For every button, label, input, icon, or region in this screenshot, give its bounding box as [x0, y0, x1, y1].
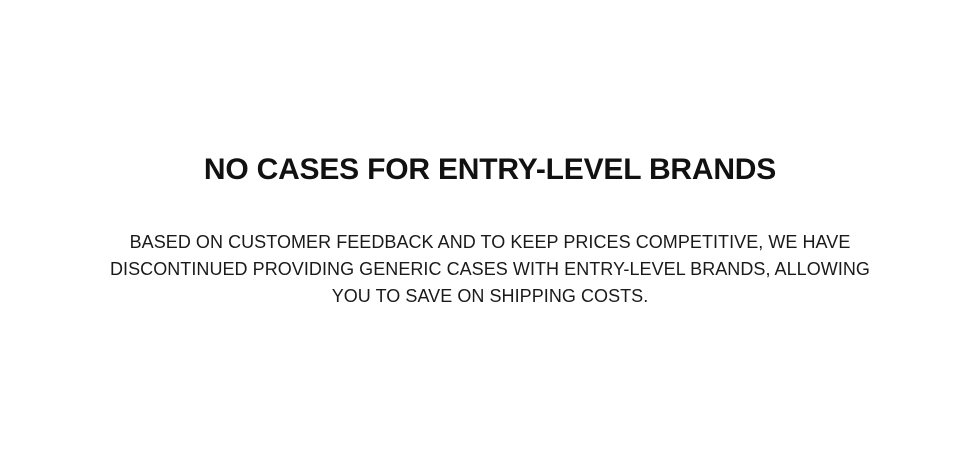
description-line: BASED ON CUSTOMER FEEDBACK AND TO KEEP P…: [90, 229, 890, 256]
description-line: DISCONTINUED PROVIDING GENERIC CASES WIT…: [90, 256, 890, 283]
promo-banner: NO CASES FOR ENTRY-LEVEL BRANDS BASED ON…: [0, 0, 980, 450]
banner-description: BASED ON CUSTOMER FEEDBACK AND TO KEEP P…: [90, 188, 890, 310]
page-title: NO CASES FOR ENTRY-LEVEL BRANDS: [204, 152, 776, 188]
description-line: YOU TO SAVE ON SHIPPING COSTS.: [90, 283, 890, 310]
